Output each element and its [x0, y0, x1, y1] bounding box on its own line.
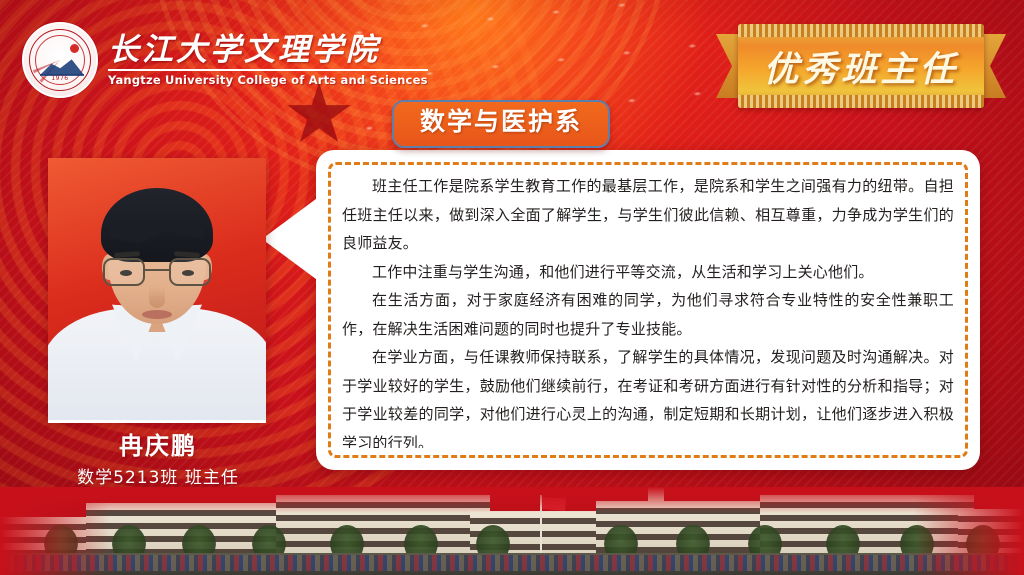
portrait-nose [149, 286, 165, 308]
glasses-lens-right [169, 258, 211, 286]
paragraph-1: 班主任工作是院系学生教育工作的最基层工作，是院系和学生之间强有力的纽带。自担任班… [342, 172, 954, 258]
university-emblem-icon: 1976 [22, 22, 98, 98]
glasses-lens-left [103, 258, 145, 286]
wordmark-divider [108, 69, 428, 71]
content-panel: 班主任工作是院系学生教育工作的最基层工作，是院系和学生之间强有力的纽带。自担任班… [316, 150, 980, 470]
person-role: 数学5213班 班主任 [0, 463, 316, 488]
emblem-year: 1976 [24, 75, 96, 82]
university-logo-block: 1976 长江大学文理学院 Yangtze University College… [22, 22, 428, 98]
department-title-badge: 数学与医护系 [392, 100, 610, 148]
university-wordmark: 长江大学文理学院 Yangtze University College of A… [108, 34, 428, 87]
portrait-glasses-icon [103, 258, 211, 288]
campus-top-fade [0, 487, 1024, 513]
department-title-label: 数学与医护系 [420, 107, 582, 136]
name-divider [48, 420, 266, 423]
campus-left-fade [0, 487, 110, 575]
campus-crowd [0, 555, 1024, 571]
paragraph-2: 工作中注重与学生沟通，和他们进行平等交流，从生活和学习上关心他们。 [342, 258, 954, 287]
campus-right-fade [914, 487, 1024, 575]
glasses-bridge [145, 269, 169, 271]
portrait-photo [48, 158, 266, 420]
portrait-mouth [142, 310, 172, 319]
emblem-sun-icon [70, 44, 79, 53]
content-paragraphs: 班主任工作是院系学生教育工作的最基层工作，是院系和学生之间强有力的纽带。自担任班… [342, 172, 954, 448]
poster-root: 1976 长江大学文理学院 Yangtze University College… [0, 0, 1024, 575]
award-ribbon-label: 优秀班主任 [716, 37, 1006, 95]
paragraph-4: 在学业方面，与任课教师保持联系，了解学生的具体情况，发现问题及时沟通解决。对于学… [342, 343, 954, 448]
person-name: 冉庆鹏 [0, 426, 316, 461]
campus-photo-strip [0, 487, 1024, 575]
university-name-cn: 长江大学文理学院 [108, 34, 428, 67]
university-name-en: Yangtze University College of Arts and S… [108, 74, 428, 87]
award-ribbon: 优秀班主任 [716, 24, 1006, 108]
paragraph-3: 在生活方面，对于家庭经济有困难的同学，为他们寻求符合专业特性的安全性兼职工作，在… [342, 286, 954, 343]
